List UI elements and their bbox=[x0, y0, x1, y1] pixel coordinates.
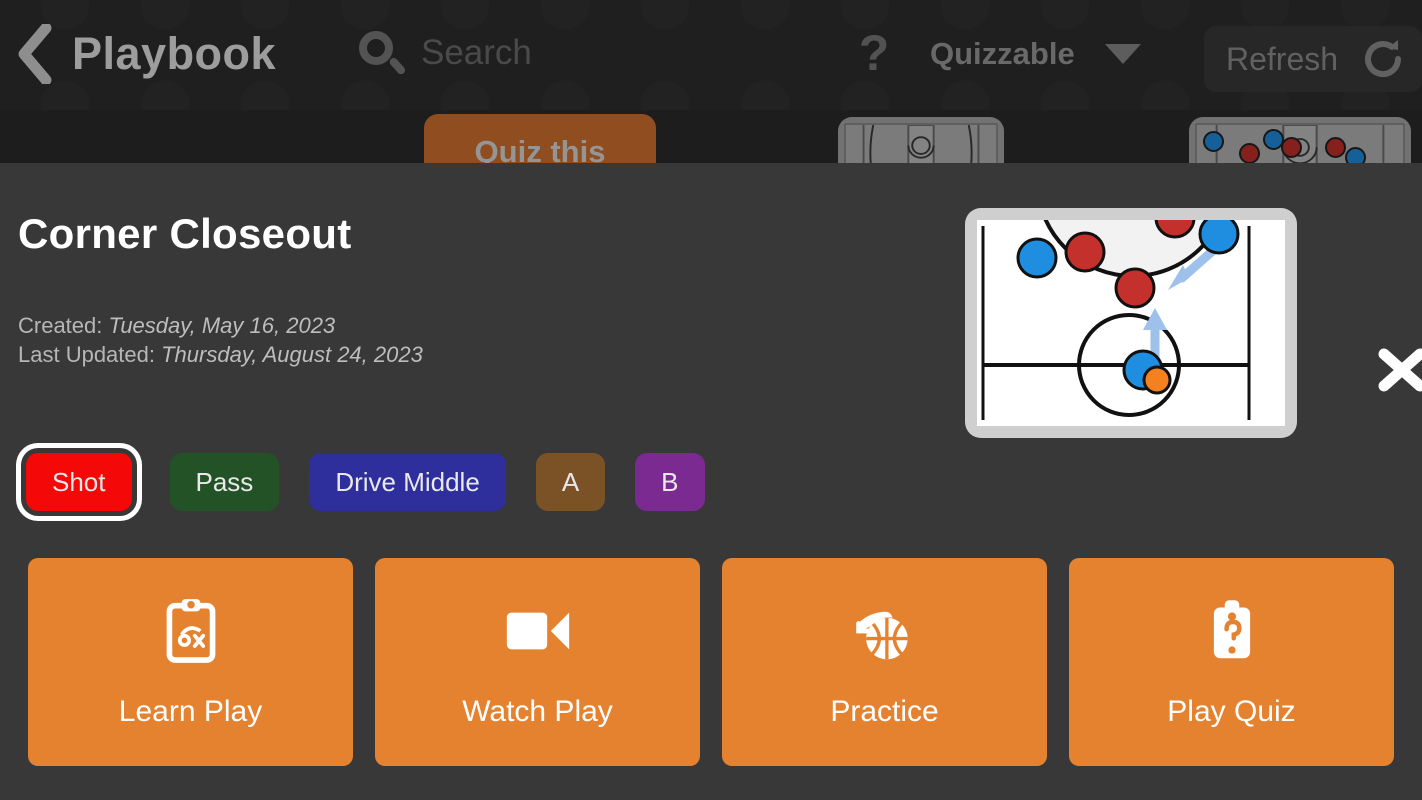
tag-chip-a[interactable]: A bbox=[536, 453, 605, 511]
clipboard-question-icon bbox=[1196, 595, 1268, 667]
play-quiz-button[interactable]: Play Quiz bbox=[1069, 558, 1394, 766]
practice-button[interactable]: Practice bbox=[722, 558, 1047, 766]
action-label: Learn Play bbox=[119, 695, 262, 729]
action-label: Play Quiz bbox=[1167, 695, 1295, 729]
video-camera-icon bbox=[502, 595, 574, 667]
player-red bbox=[1116, 269, 1154, 307]
play-metadata: Created: Tuesday, May 16, 2023 Last Upda… bbox=[18, 311, 423, 369]
tag-chip-row: Shot Pass Drive Middle A B bbox=[18, 453, 705, 511]
learn-play-button[interactable]: Learn Play bbox=[28, 558, 353, 766]
play-detail-modal: Corner Closeout Created: Tuesday, May 16… bbox=[0, 163, 1422, 800]
last-updated-line: Last Updated: Thursday, August 24, 2023 bbox=[18, 340, 423, 369]
tag-chip-shot[interactable]: Shot bbox=[26, 453, 132, 511]
player-blue bbox=[1018, 239, 1056, 277]
created-label: Created: bbox=[18, 313, 102, 338]
tag-label: B bbox=[661, 467, 678, 498]
basketball bbox=[1144, 367, 1170, 393]
court-diagram-preview[interactable] bbox=[965, 208, 1297, 438]
tag-label: Drive Middle bbox=[335, 467, 480, 498]
tag-chip-b[interactable]: B bbox=[635, 453, 704, 511]
play-title: Corner Closeout bbox=[18, 210, 352, 258]
action-button-row: Learn Play Watch Play bbox=[28, 558, 1394, 766]
tag-chip-drive-middle[interactable]: Drive Middle bbox=[309, 453, 506, 511]
tag-label: Shot bbox=[52, 467, 106, 498]
clipboard-play-icon bbox=[155, 595, 227, 667]
watch-play-button[interactable]: Watch Play bbox=[375, 558, 700, 766]
player-red bbox=[1066, 233, 1104, 271]
last-updated-value: Thursday, August 24, 2023 bbox=[161, 342, 423, 367]
tag-chip-pass[interactable]: Pass bbox=[170, 453, 280, 511]
action-label: Watch Play bbox=[462, 695, 613, 729]
tag-label: A bbox=[562, 467, 579, 498]
created-value: Tuesday, May 16, 2023 bbox=[109, 313, 336, 338]
close-icon[interactable] bbox=[1374, 341, 1422, 397]
hand-basketball-icon bbox=[849, 595, 921, 667]
last-updated-label: Last Updated: bbox=[18, 342, 155, 367]
player-blue bbox=[1200, 220, 1238, 253]
action-label: Practice bbox=[830, 695, 938, 729]
created-line: Created: Tuesday, May 16, 2023 bbox=[18, 311, 423, 340]
tag-label: Pass bbox=[196, 467, 254, 498]
